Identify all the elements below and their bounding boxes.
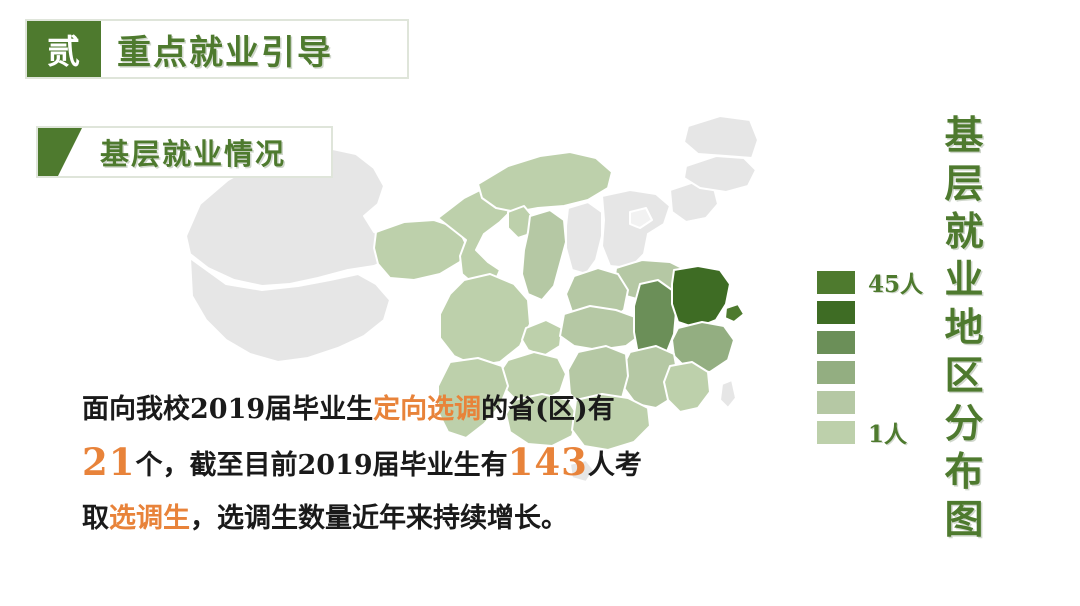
legend-label: 1人 (868, 415, 907, 449)
stat-graduates-count: 143 (508, 440, 588, 484)
legend-item (817, 360, 927, 384)
vertical-title-char: 图 (938, 496, 990, 544)
body-paragraph: 面向我校2019届毕业生定向选调的省(区)有 21个，截至目前2019届毕业生有… (82, 383, 712, 545)
legend-swatch-icon (817, 361, 855, 384)
legend-swatch-icon (817, 421, 855, 444)
body-seg: 个，截至目前2019届毕业生有 (136, 450, 508, 481)
legend-swatch-icon (817, 331, 855, 354)
legend-item (817, 300, 927, 324)
map-legend: 45人 1人 (817, 270, 927, 450)
body-seg: 面向我校2019届毕业生 (82, 394, 373, 425)
vertical-title-char: 布 (938, 448, 990, 496)
map-region-shanxi (566, 202, 602, 274)
vertical-title-char: 就 (938, 208, 990, 256)
body-line-1: 面向我校2019届毕业生定向选调的省(区)有 (82, 383, 712, 436)
legend-swatch-icon (817, 301, 855, 324)
vertical-title-char: 地 (938, 304, 990, 352)
legend-label: 45人 (868, 265, 923, 299)
corner-triangle-icon (38, 128, 92, 176)
map-region-shaanxi (522, 210, 566, 300)
map-region-heilongjiang (684, 116, 758, 158)
vertical-chart-title: 基 层 就 业 地 区 分 布 图 (938, 112, 990, 532)
subsection-header-banner: 基层就业情况 (36, 126, 333, 178)
slide-canvas: 贰 重点就业引导 基层就业情况 面向我校2019届毕业生定向选调的省(区)有 2… (0, 0, 1080, 606)
stat-provinces-count: 21 (82, 440, 136, 484)
vertical-title-char: 业 (938, 256, 990, 304)
body-seg-highlight: 定向选调 (373, 394, 481, 425)
body-seg: 取 (82, 503, 109, 534)
legend-swatch-icon (817, 391, 855, 414)
map-region-shanghai (725, 304, 744, 322)
map-region-taiwan (720, 380, 736, 408)
legend-swatch-icon (817, 271, 855, 294)
body-seg-highlight: 选调生 (109, 503, 190, 534)
section-header-banner: 贰 重点就业引导 (25, 19, 409, 79)
map-region-sichuan (440, 274, 530, 366)
legend-item: 1人 (817, 420, 927, 444)
map-region-jiangsu (672, 266, 730, 328)
vertical-title-char: 层 (938, 160, 990, 208)
legend-item (817, 330, 927, 354)
body-seg: ，选调生数量近年来持续增长。 (190, 503, 568, 534)
vertical-title-char: 基 (938, 112, 990, 160)
map-region-hebei (602, 190, 670, 268)
legend-item: 45人 (817, 270, 927, 294)
subsection-title-text: 基层就业情况 (100, 131, 286, 173)
section-number-badge: 贰 (27, 21, 101, 77)
map-region-inner-mongolia (478, 152, 612, 212)
body-line-2: 21个，截至目前2019届毕业生有143人考 (82, 436, 712, 492)
section-title-text: 重点就业引导 (101, 21, 407, 77)
body-seg: 的省(区)有 (481, 394, 615, 425)
legend-item (817, 390, 927, 414)
vertical-title-char: 区 (938, 352, 990, 400)
body-line-3: 取选调生，选调生数量近年来持续增长。 (82, 492, 712, 545)
map-region-hubei (560, 306, 642, 350)
body-seg: 人考 (588, 450, 642, 481)
vertical-title-char: 分 (938, 400, 990, 448)
